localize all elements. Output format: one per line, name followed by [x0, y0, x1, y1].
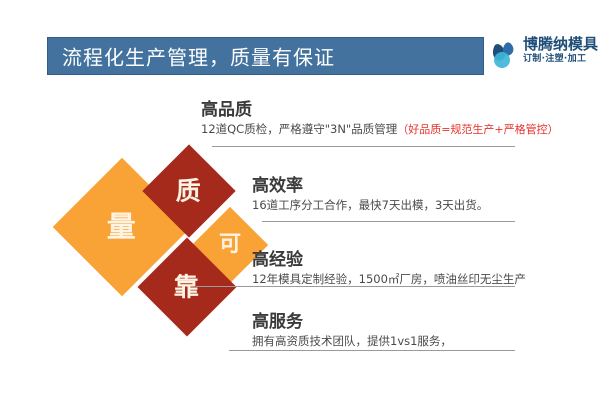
- slide-canvas: 流程化生产管理，质量有保证 博腾纳模具 订制·注塑·加工 量 质 可 靠 高品质…: [0, 0, 600, 400]
- feature-desc-quality-highlight: （好品质=规范生产+严格管控）: [397, 123, 558, 136]
- diamond-zhi-label: 质: [176, 178, 201, 203]
- divider-line-efficiency: [262, 221, 515, 222]
- feature-desc-quality: 12道QC质检，严格遵守"3N"品质管理（好品质=规范生产+严格管控）: [201, 122, 559, 137]
- feature-desc-efficiency: 16道工序分工合作，最快7天出模，3天出货。: [252, 198, 488, 213]
- feature-heading-efficiency: 高效率: [252, 176, 488, 196]
- divider-line-service: [229, 350, 515, 351]
- feature-heading-experience: 高经验: [252, 250, 526, 270]
- feature-block-quality: 高品质 12道QC质检，严格遵守"3N"品质管理（好品质=规范生产+严格管控）: [201, 100, 559, 137]
- company-logo: 博腾纳模具 订制·注塑·加工: [489, 36, 593, 76]
- feature-heading-quality: 高品质: [201, 100, 559, 120]
- divider-line-experience: [196, 286, 515, 287]
- feature-block-experience: 高经验 12年模具定制经验，1500㎡厂房，喷油丝印无尘生产: [252, 250, 526, 287]
- divider-line-quality: [212, 146, 515, 147]
- slide-title-bar: 流程化生产管理，质量有保证: [47, 37, 484, 75]
- feature-desc-service: 拥有高资质技术团队，提供1vs1服务，: [252, 334, 452, 349]
- logo-company-name: 博腾纳模具: [523, 36, 593, 53]
- diamond-ke-label: 可: [219, 234, 241, 256]
- feature-desc-quality-text: 12道QC质检，严格遵守"3N"品质管理: [201, 122, 397, 136]
- logo-subtitle: 订制·注塑·加工: [523, 53, 593, 65]
- feature-desc-experience: 12年模具定制经验，1500㎡厂房，喷油丝印无尘生产: [252, 272, 526, 287]
- feature-heading-service: 高服务: [252, 312, 452, 332]
- butterfly-logo-icon: [489, 39, 521, 71]
- page-title: 流程化生产管理，质量有保证: [62, 42, 335, 71]
- logo-text-group: 博腾纳模具 订制·注塑·加工: [523, 36, 593, 65]
- feature-block-efficiency: 高效率 16道工序分工合作，最快7天出模，3天出货。: [252, 176, 488, 213]
- feature-block-service: 高服务 拥有高资质技术团队，提供1vs1服务，: [252, 312, 452, 349]
- diamond-liang-label: 量: [107, 212, 136, 241]
